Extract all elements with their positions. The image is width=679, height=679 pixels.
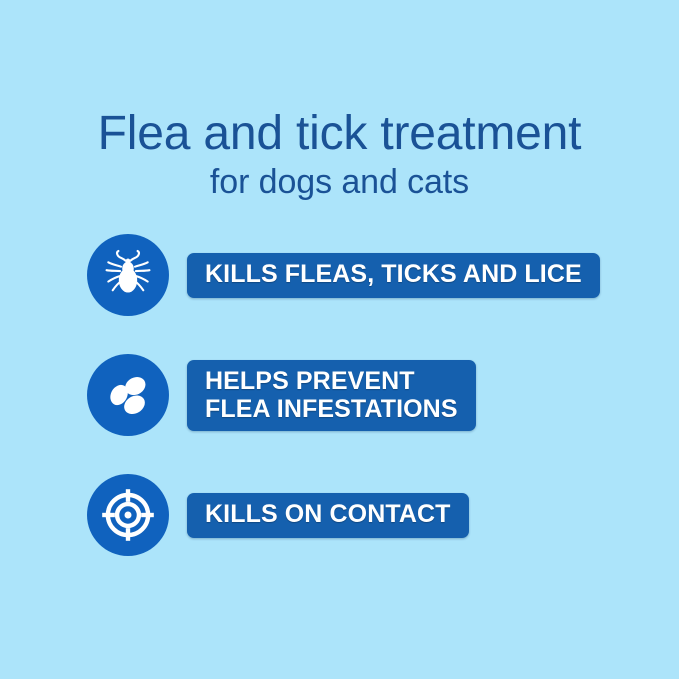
feature-row: KILLS ON CONTACT xyxy=(87,474,469,556)
tick-icon xyxy=(100,247,156,303)
target-crosshair-icon xyxy=(100,487,156,543)
feature-badge-label: KILLS FLEAS, TICKS AND LICE xyxy=(205,260,582,289)
feature-row: HELPS PREVENT FLEA INFESTATIONS xyxy=(87,354,476,436)
flea-eggs-icon xyxy=(102,369,154,421)
icon-badge-circle xyxy=(87,474,169,556)
feature-badge-label: HELPS PREVENT FLEA INFESTATIONS xyxy=(205,367,458,423)
page-title: Flea and tick treatment xyxy=(0,108,679,160)
feature-badge-label: KILLS ON CONTACT xyxy=(205,500,451,529)
feature-badge: KILLS FLEAS, TICKS AND LICE xyxy=(187,253,600,298)
feature-row: KILLS FLEAS, TICKS AND LICE xyxy=(87,234,600,316)
product-feature-panel: Flea and tick treatment for dogs and cat… xyxy=(0,0,679,679)
page-subtitle: for dogs and cats xyxy=(0,162,679,202)
feature-badge: HELPS PREVENT FLEA INFESTATIONS xyxy=(187,360,476,431)
icon-badge-circle xyxy=(87,234,169,316)
feature-badge: KILLS ON CONTACT xyxy=(187,493,469,538)
heading-block: Flea and tick treatment for dogs and cat… xyxy=(0,108,679,202)
icon-badge-circle xyxy=(87,354,169,436)
